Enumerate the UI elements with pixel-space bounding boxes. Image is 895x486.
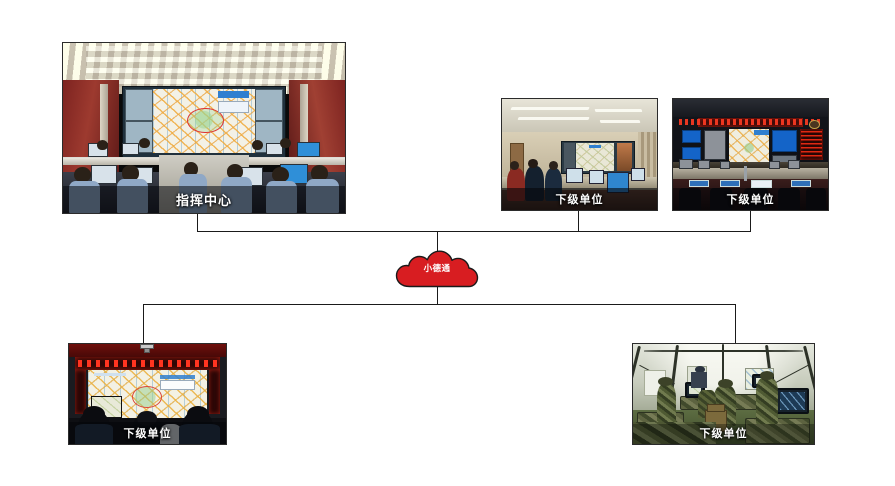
sub-unit-3-photo bbox=[69, 344, 226, 444]
node-sub-unit-3[interactable]: 下级单位 bbox=[68, 343, 227, 445]
connector-sub-unit-1-drop bbox=[578, 211, 579, 232]
sub-unit-2-photo bbox=[673, 99, 828, 210]
sub-unit-1-photo bbox=[502, 99, 657, 210]
connector-sub-unit-4-drop bbox=[735, 304, 736, 343]
connector-lower-bus bbox=[143, 304, 736, 305]
diagram-canvas: 指挥中心 bbox=[0, 0, 895, 486]
connector-command-center-drop bbox=[197, 214, 198, 232]
connector-upper-bus bbox=[197, 231, 751, 232]
node-sub-unit-2[interactable]: 下级单位 bbox=[672, 98, 829, 211]
connector-sub-unit-2-drop bbox=[750, 211, 751, 232]
node-sub-unit-4[interactable]: 下级单位 bbox=[632, 343, 815, 445]
cloud-node[interactable]: 小德通 bbox=[395, 250, 479, 288]
connector-sub-unit-3-drop bbox=[143, 304, 144, 344]
cloud-icon bbox=[395, 250, 479, 288]
node-sub-unit-1[interactable]: 下级单位 bbox=[501, 98, 658, 211]
command-center-photo bbox=[63, 43, 345, 213]
sub-unit-4-photo bbox=[633, 344, 814, 444]
node-command-center[interactable]: 指挥中心 bbox=[62, 42, 346, 214]
